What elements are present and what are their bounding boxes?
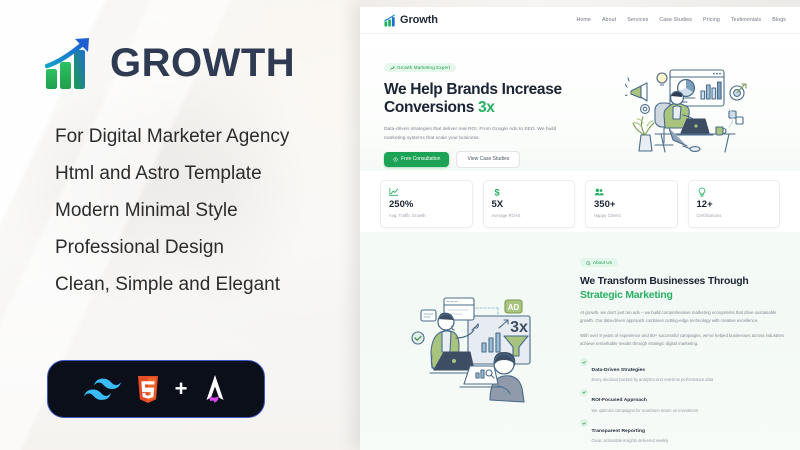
stat-value: 350+ — [594, 200, 669, 210]
hero-title-line2: Conversions — [384, 99, 474, 116]
tailwind-css-icon — [84, 377, 122, 401]
html5-icon — [136, 376, 160, 403]
svg-text:3x: 3x — [510, 319, 528, 336]
feature-list: For Digital Marketer Agency Html and Ast… — [55, 127, 289, 295]
stat-card: $ 5X Average ROAS — [483, 180, 576, 228]
brand-name: GROWTH — [110, 43, 295, 83]
navbar-brand-label: Growth — [400, 14, 438, 26]
stat-value: 12+ — [697, 200, 772, 210]
stat-card: 350+ Happy Clients — [585, 180, 678, 228]
feature-title: Data-Driven Strategies — [592, 368, 646, 373]
nav-link-home[interactable]: Home — [576, 17, 590, 23]
hero-title-line1: We Help Brands Increase — [384, 81, 562, 98]
navbar-links: Home About Services Case Studies Pricing… — [576, 17, 786, 23]
preview-top-strip — [360, 0, 800, 7]
check-icon — [580, 358, 588, 366]
feature-item: ROI-Focused Approach We optimize campaig… — [580, 388, 786, 413]
check-icon — [580, 419, 588, 427]
calendar-icon — [393, 157, 398, 162]
about-badge: About Us — [580, 258, 618, 267]
feature-title: ROI-Focused Approach — [592, 398, 647, 403]
about-title: We Transform Businesses Through Strategi… — [580, 275, 786, 302]
feature-title: Transparent Reporting — [592, 429, 646, 434]
navbar-brand[interactable]: Growth — [384, 14, 438, 27]
feature-desc: Every decision backed by analytics and r… — [592, 377, 714, 382]
stat-label: Happy Clients — [594, 213, 669, 218]
about-paragraph-1: At growth, we don't just run ads – we bu… — [580, 309, 786, 326]
brand-logo: GROWTH — [45, 36, 295, 90]
stat-label: Certifications — [697, 213, 772, 218]
nav-link-blogs[interactable]: Blogs — [772, 17, 786, 23]
about-paragraph-2: With over 8 years of experience and 50+ … — [580, 332, 786, 349]
feature-desc: We optimize campaigns for maximum return… — [592, 408, 699, 413]
feature-line: Clean, Simple and Elegant — [55, 275, 289, 295]
users-icon — [594, 187, 669, 197]
info-circle-icon — [586, 261, 591, 266]
check-icon — [580, 389, 588, 397]
stat-value: 5X — [492, 200, 567, 210]
feature-item: Transparent Reporting Clear, actionable … — [580, 419, 786, 444]
website-preview: Growth Home About Services Case Studies … — [360, 0, 800, 450]
view-case-studies-button[interactable]: View Case Studies — [456, 151, 520, 168]
hero-badge: Growth Marketing Expert — [384, 63, 456, 72]
growth-bar-chart-arrow-icon — [45, 36, 97, 90]
stat-value: 250% — [389, 200, 464, 210]
stats-row: 250% Avg. Traffic Growth $ 5X Average RO… — [360, 180, 800, 228]
feature-desc: Clear, actionable insights delivered wee… — [592, 438, 669, 443]
stat-card: 250% Avg. Traffic Growth — [380, 180, 473, 228]
marketer-at-desk-with-dashboard-illustration — [589, 51, 784, 171]
stat-card: 12+ Certifications — [688, 180, 781, 228]
hero-section: Growth Marketing Expert We Help Brands I… — [360, 34, 800, 171]
trend-up-icon — [390, 66, 395, 71]
stat-label: Average ROAS — [492, 213, 567, 218]
feature-line: For Digital Marketer Agency — [55, 127, 289, 147]
svg-text:AD: AD — [508, 303, 520, 312]
lightbulb-icon — [697, 187, 772, 197]
hero-badge-label: Growth Marketing Expert — [397, 65, 450, 70]
hero-title-accent: 3x — [478, 99, 495, 116]
about-badge-label: About Us — [593, 260, 612, 265]
team-presenting-3x-growth-funnel-illustration: 3x AD — [376, 252, 572, 450]
about-feature-list: Data-Driven Strategies Every decision ba… — [580, 358, 786, 444]
about-title-line1: We Transform Businesses Through — [580, 276, 749, 287]
free-consultation-label: Free Consultation — [401, 156, 440, 162]
hero-subtitle: Data-driven strategies that deliver real… — [384, 125, 572, 143]
nav-link-about[interactable]: About — [602, 17, 616, 23]
nav-link-testimonials[interactable]: Testimonials — [731, 17, 761, 23]
about-title-accent: Strategic Marketing — [580, 289, 786, 303]
stat-label: Avg. Traffic Growth — [389, 213, 464, 218]
site-navbar: Growth Home About Services Case Studies … — [360, 7, 800, 34]
dollar-icon: $ — [492, 187, 567, 197]
tech-stack-badge: + — [47, 360, 265, 418]
free-consultation-button[interactable]: Free Consultation — [384, 152, 449, 167]
line-chart-icon — [389, 187, 464, 197]
feature-line: Modern Minimal Style — [55, 201, 289, 221]
astro-icon — [202, 375, 228, 404]
about-section: 3x AD — [360, 232, 800, 450]
feature-line: Professional Design — [55, 238, 289, 258]
hero-title: We Help Brands Increase Conversions 3x — [384, 81, 589, 118]
growth-bar-chart-icon — [384, 14, 397, 27]
hero-buttons: Free Consultation View Case Studies — [384, 151, 589, 168]
nav-link-case-studies[interactable]: Case Studies — [659, 17, 692, 23]
promo-panel: GROWTH For Digital Marketer Agency Html … — [0, 0, 360, 450]
nav-link-pricing[interactable]: Pricing — [703, 17, 720, 23]
nav-link-services[interactable]: Services — [627, 17, 648, 23]
feature-line: Html and Astro Template — [55, 164, 289, 184]
feature-item: Data-Driven Strategies Every decision ba… — [580, 358, 786, 383]
svg-text:$: $ — [494, 187, 499, 197]
plus-separator: + — [175, 378, 188, 400]
